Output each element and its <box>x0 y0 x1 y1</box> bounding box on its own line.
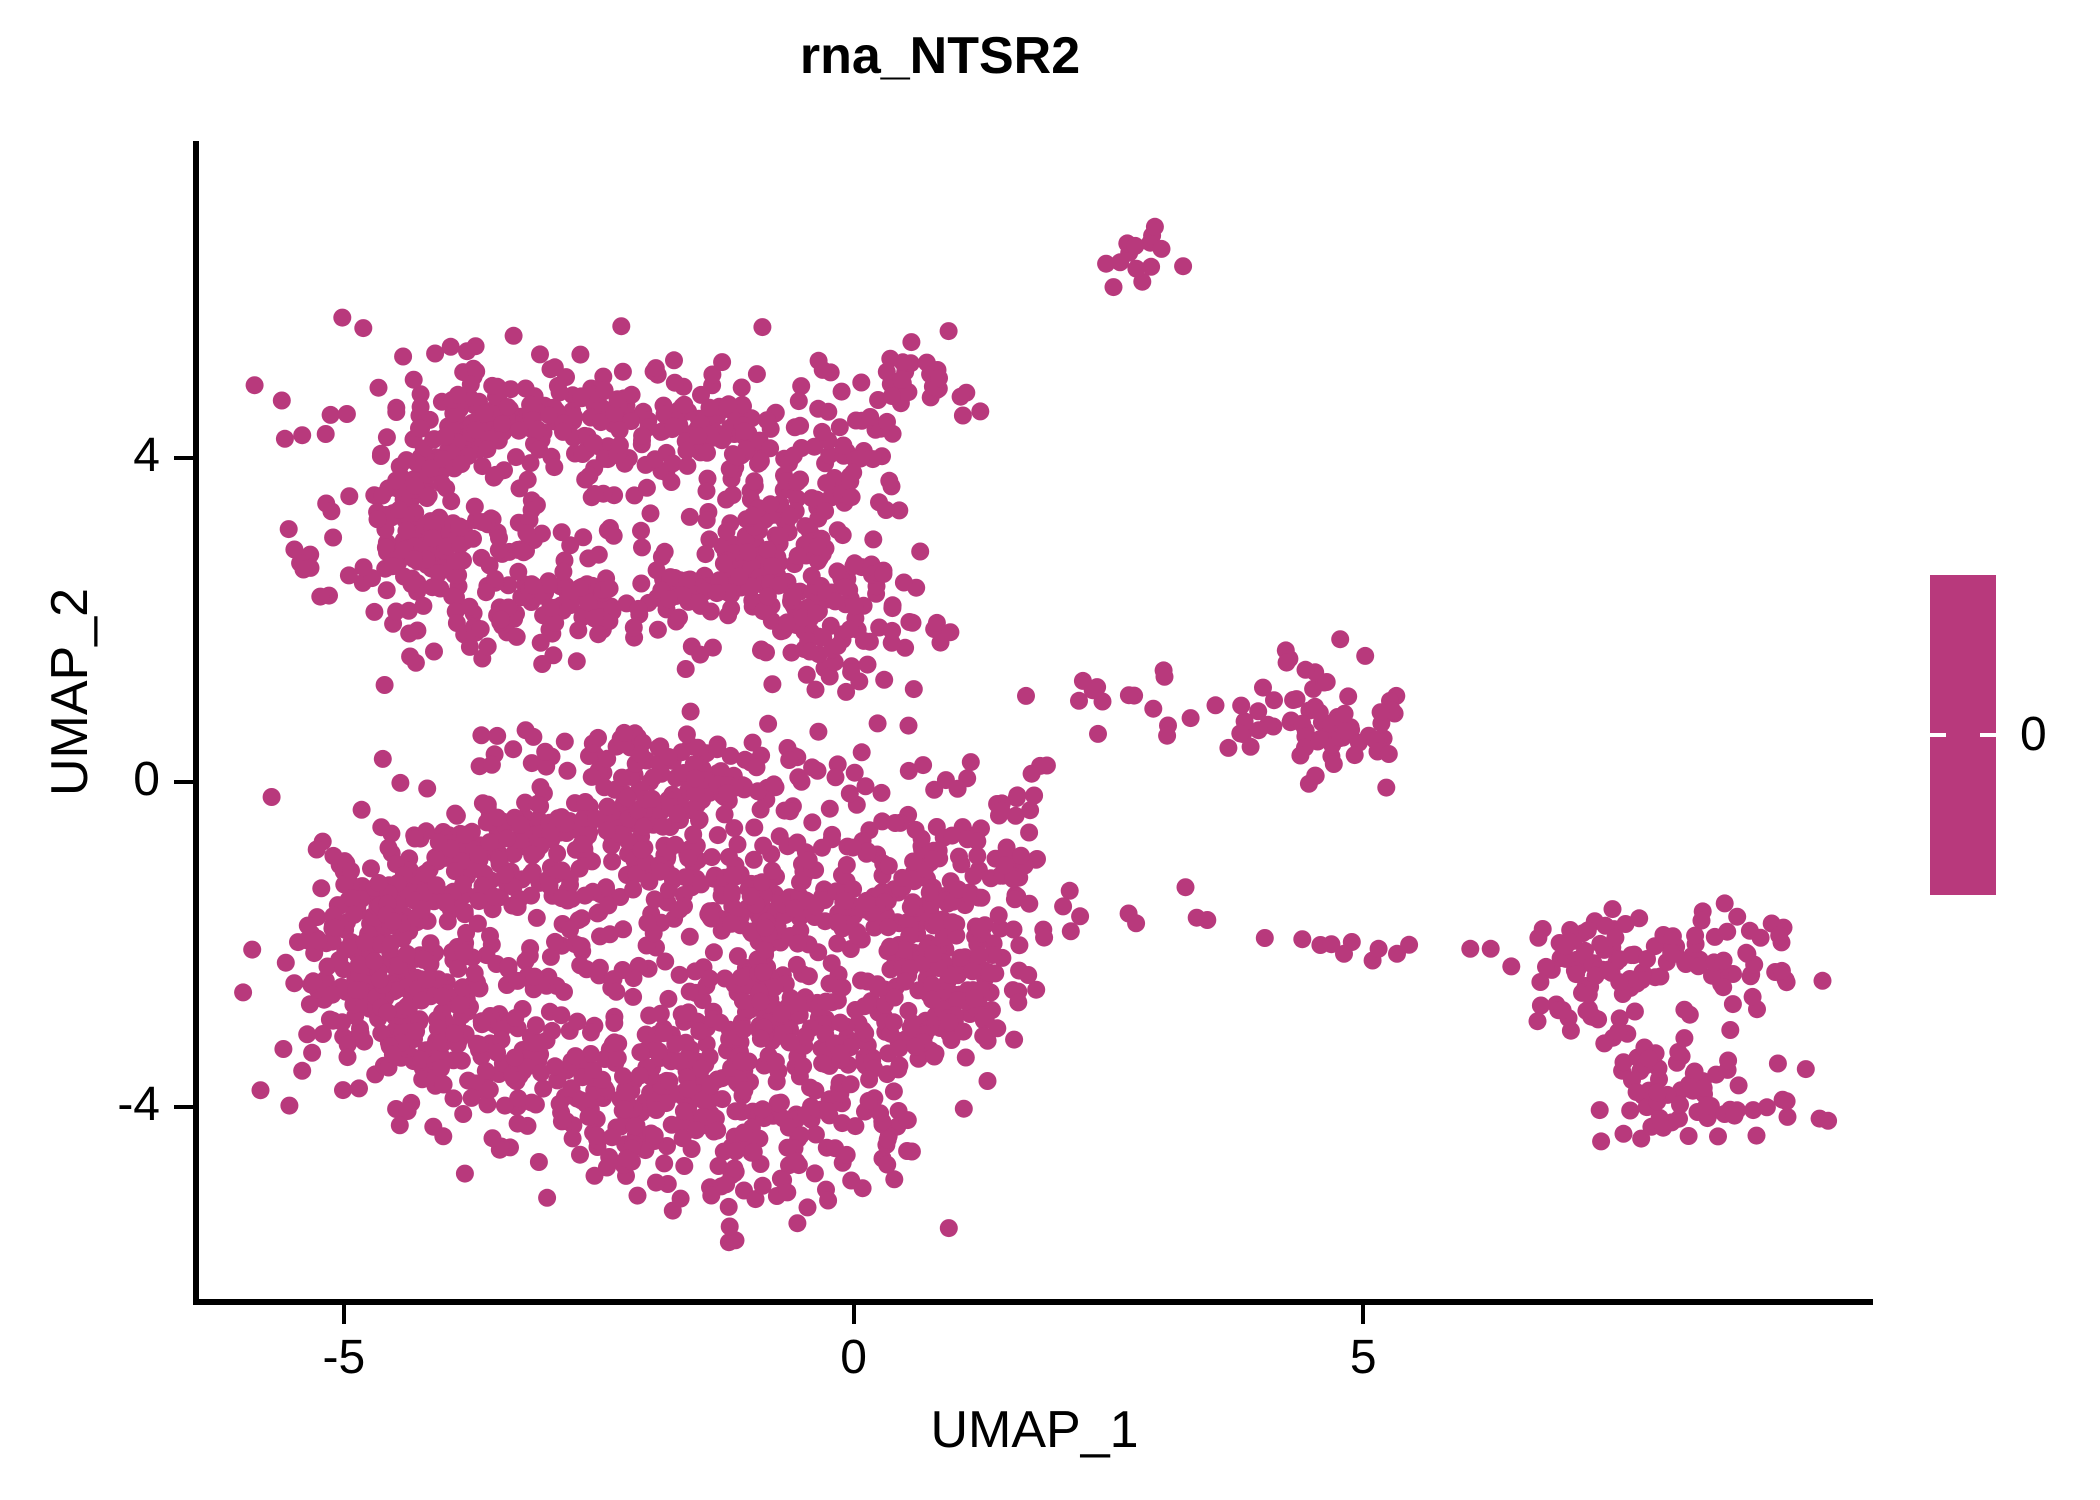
colorbar-legend: 0 <box>1930 575 2090 925</box>
x-tick-label: 0 <box>784 1330 924 1385</box>
x-tick-label: 5 <box>1293 1330 1433 1385</box>
x-axis-label: UMAP_1 <box>196 1400 1873 1460</box>
page-title: rna_NTSR2 <box>0 26 1880 86</box>
colorbar-tick-left <box>1930 733 1946 737</box>
scatter-plot-area <box>196 141 1873 1302</box>
y-tick-mark <box>174 456 193 460</box>
umap-feature-plot: rna_NTSR2 -505 40-4 UMAP_1 UMAP_2 0 <box>0 0 2100 1500</box>
colorbar-tick-label: 0 <box>2020 707 2047 762</box>
x-tick-mark <box>852 1305 856 1324</box>
y-tick-mark <box>174 1105 193 1109</box>
x-tick-mark <box>1361 1305 1365 1324</box>
colorbar-gradient <box>1930 575 1996 895</box>
point-series <box>234 218 1837 1251</box>
y-axis-label: UMAP_2 <box>40 292 100 1092</box>
x-tick-mark <box>342 1305 346 1324</box>
colorbar-tick-right <box>1980 733 1996 737</box>
scatter-points-layer <box>196 141 1873 1302</box>
x-tick-label: -5 <box>274 1330 414 1385</box>
y-tick-mark <box>174 780 193 784</box>
